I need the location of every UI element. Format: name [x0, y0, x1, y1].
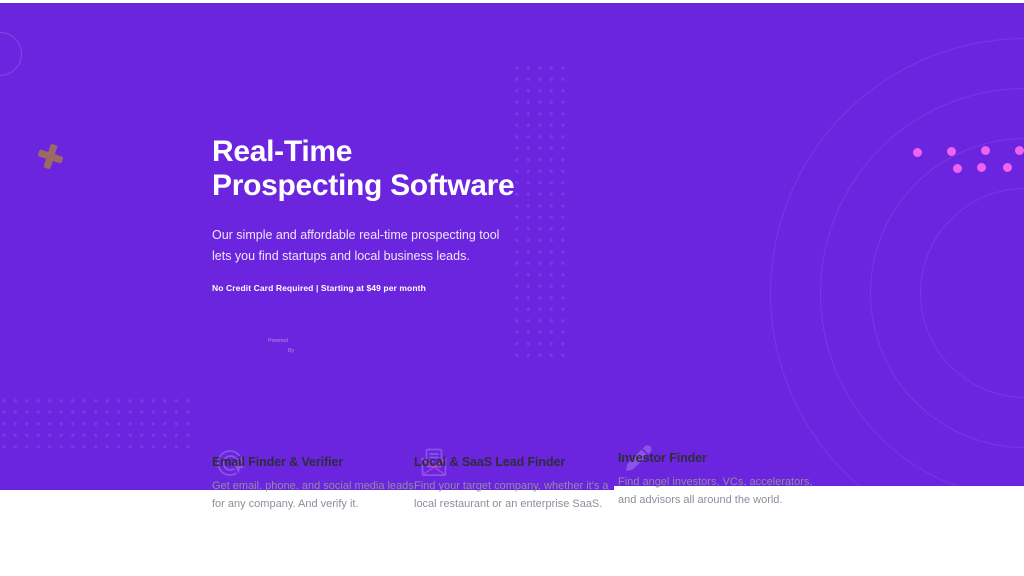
feature-title: Investor Finder	[618, 451, 824, 465]
feature-text-email-finder: Email Finder & Verifier Get email, phone…	[212, 455, 414, 514]
feature-description: Find your target company, whether it's a…	[414, 478, 616, 514]
feature-title: Local & SaaS Lead Finder	[414, 455, 616, 469]
feature-description: Get email, phone, and social media leads…	[212, 478, 414, 514]
feature-title: Email Finder & Verifier	[212, 455, 414, 469]
feature-text-investor-finder: Investor Finder Find angel investors, VC…	[618, 451, 824, 510]
feature-text-lead-finder: Local & SaaS Lead Finder Find your targe…	[414, 455, 616, 514]
landing-page: Real-Time Prospecting Software Our simpl…	[0, 0, 1024, 576]
feature-description: Find angel investors, VCs, accelerators,…	[618, 474, 824, 510]
